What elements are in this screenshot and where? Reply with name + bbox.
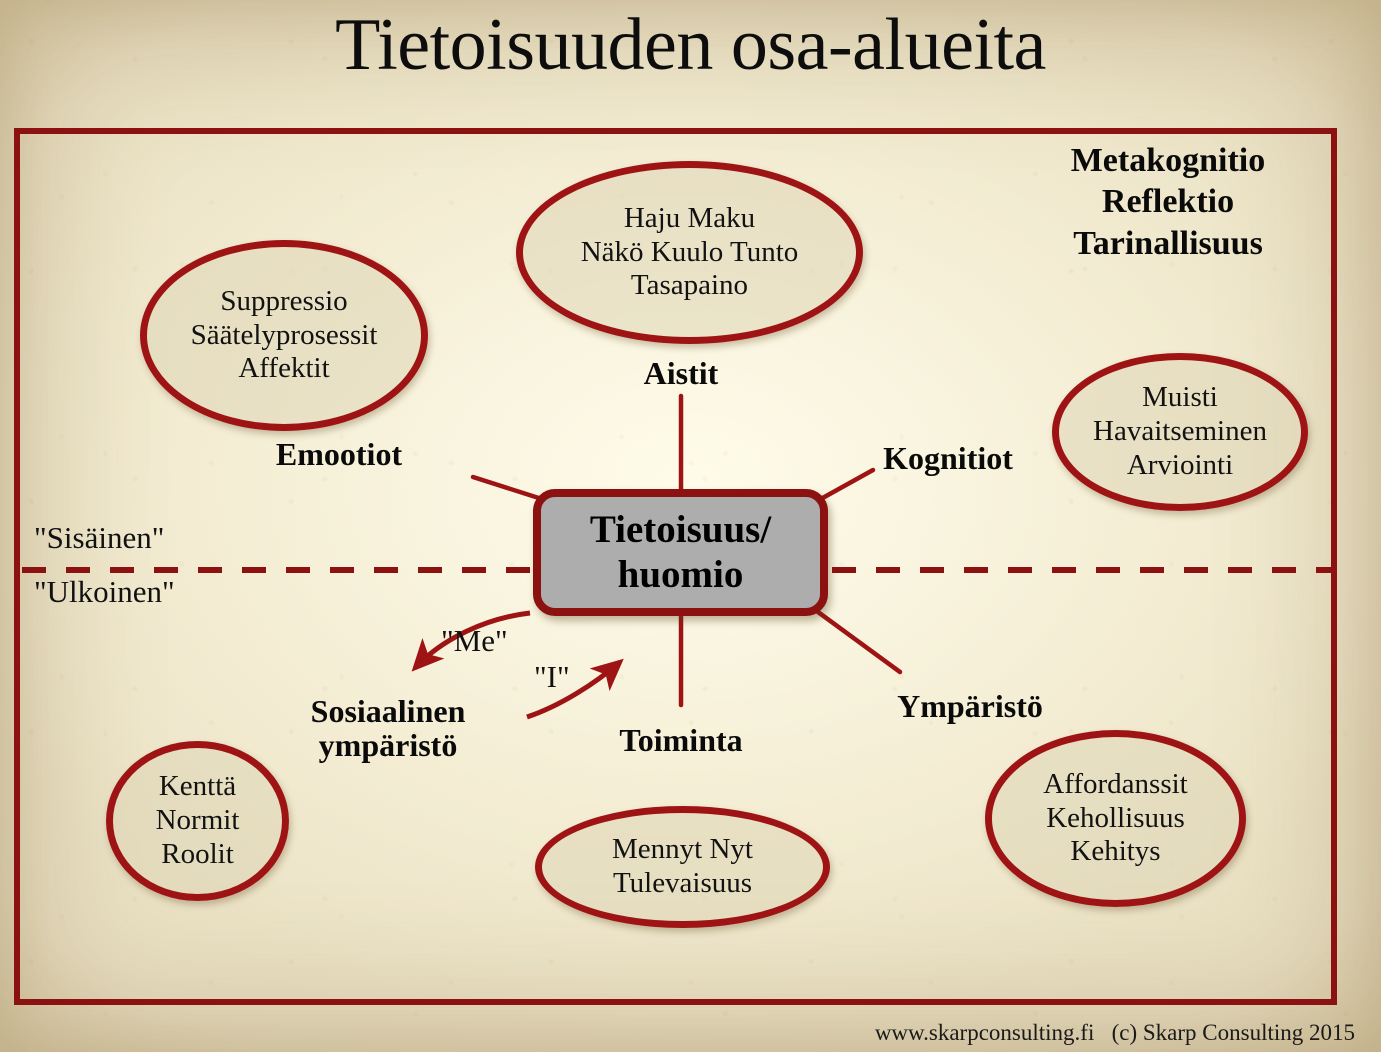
arrow-label-me: "Me" (441, 625, 508, 658)
bubble-ymparisto[interactable]: Affordanssit Kehollisuus Kehitys (985, 730, 1246, 907)
page-title: Tietoisuuden osa-alueita (0, 8, 1381, 82)
bubble-kognitiot-text: Muisti Havaitseminen Arviointi (1093, 381, 1267, 483)
divider-label-external: "Ulkoinen" (34, 576, 175, 609)
branch-label-emootiot: Emootiot (199, 438, 479, 472)
bubble-aistit-text: Haju Maku Näkö Kuulo Tunto Tasapaino (581, 202, 799, 304)
branch-label-ymparisto: Ympäristö (855, 690, 1085, 724)
bubble-sosiaalinen-ymparisto[interactable]: Kenttä Normit Roolit (106, 741, 289, 901)
bubble-ymparisto-text: Affordanssit Kehollisuus Kehitys (1043, 768, 1187, 870)
slide-canvas: Tietoisuuden osa-alueita Tietoisuus/ huo… (0, 0, 1381, 1052)
divider-label-internal: "Sisäinen" (34, 522, 164, 555)
branch-label-toiminta: Toiminta (581, 724, 781, 758)
bubble-emootiot[interactable]: Suppressio Säätelyprosessit Affektit (140, 240, 428, 431)
bubble-toiminta-text: Mennyt Nyt Tulevaisuus (612, 833, 753, 901)
bubble-emootiot-text: Suppressio Säätelyprosessit Affektit (191, 285, 378, 387)
footer-credit: www.skarpconsulting.fi (c) Skarp Consult… (875, 1020, 1355, 1046)
center-node-label: Tietoisuus/ huomio (590, 508, 771, 597)
center-node[interactable]: Tietoisuus/ huomio (533, 489, 828, 616)
branch-label-kognitiot: Kognitiot (835, 442, 1061, 476)
bubble-sosiaalinen-ymparisto-text: Kenttä Normit Roolit (156, 770, 240, 872)
branch-label-sosiaalinen-ymparisto: Sosiaalinen ympäristö (266, 695, 510, 763)
arrow-label-i: "I" (534, 661, 570, 694)
bubble-toiminta[interactable]: Mennyt Nyt Tulevaisuus (535, 806, 830, 928)
branch-label-aistit: Aistit (581, 357, 781, 391)
bubble-kognitiot[interactable]: Muisti Havaitseminen Arviointi (1052, 353, 1308, 511)
metacognition-note: Metakognitio Reflektio Tarinallisuus (1012, 140, 1324, 264)
bubble-aistit[interactable]: Haju Maku Näkö Kuulo Tunto Tasapaino (516, 161, 863, 344)
